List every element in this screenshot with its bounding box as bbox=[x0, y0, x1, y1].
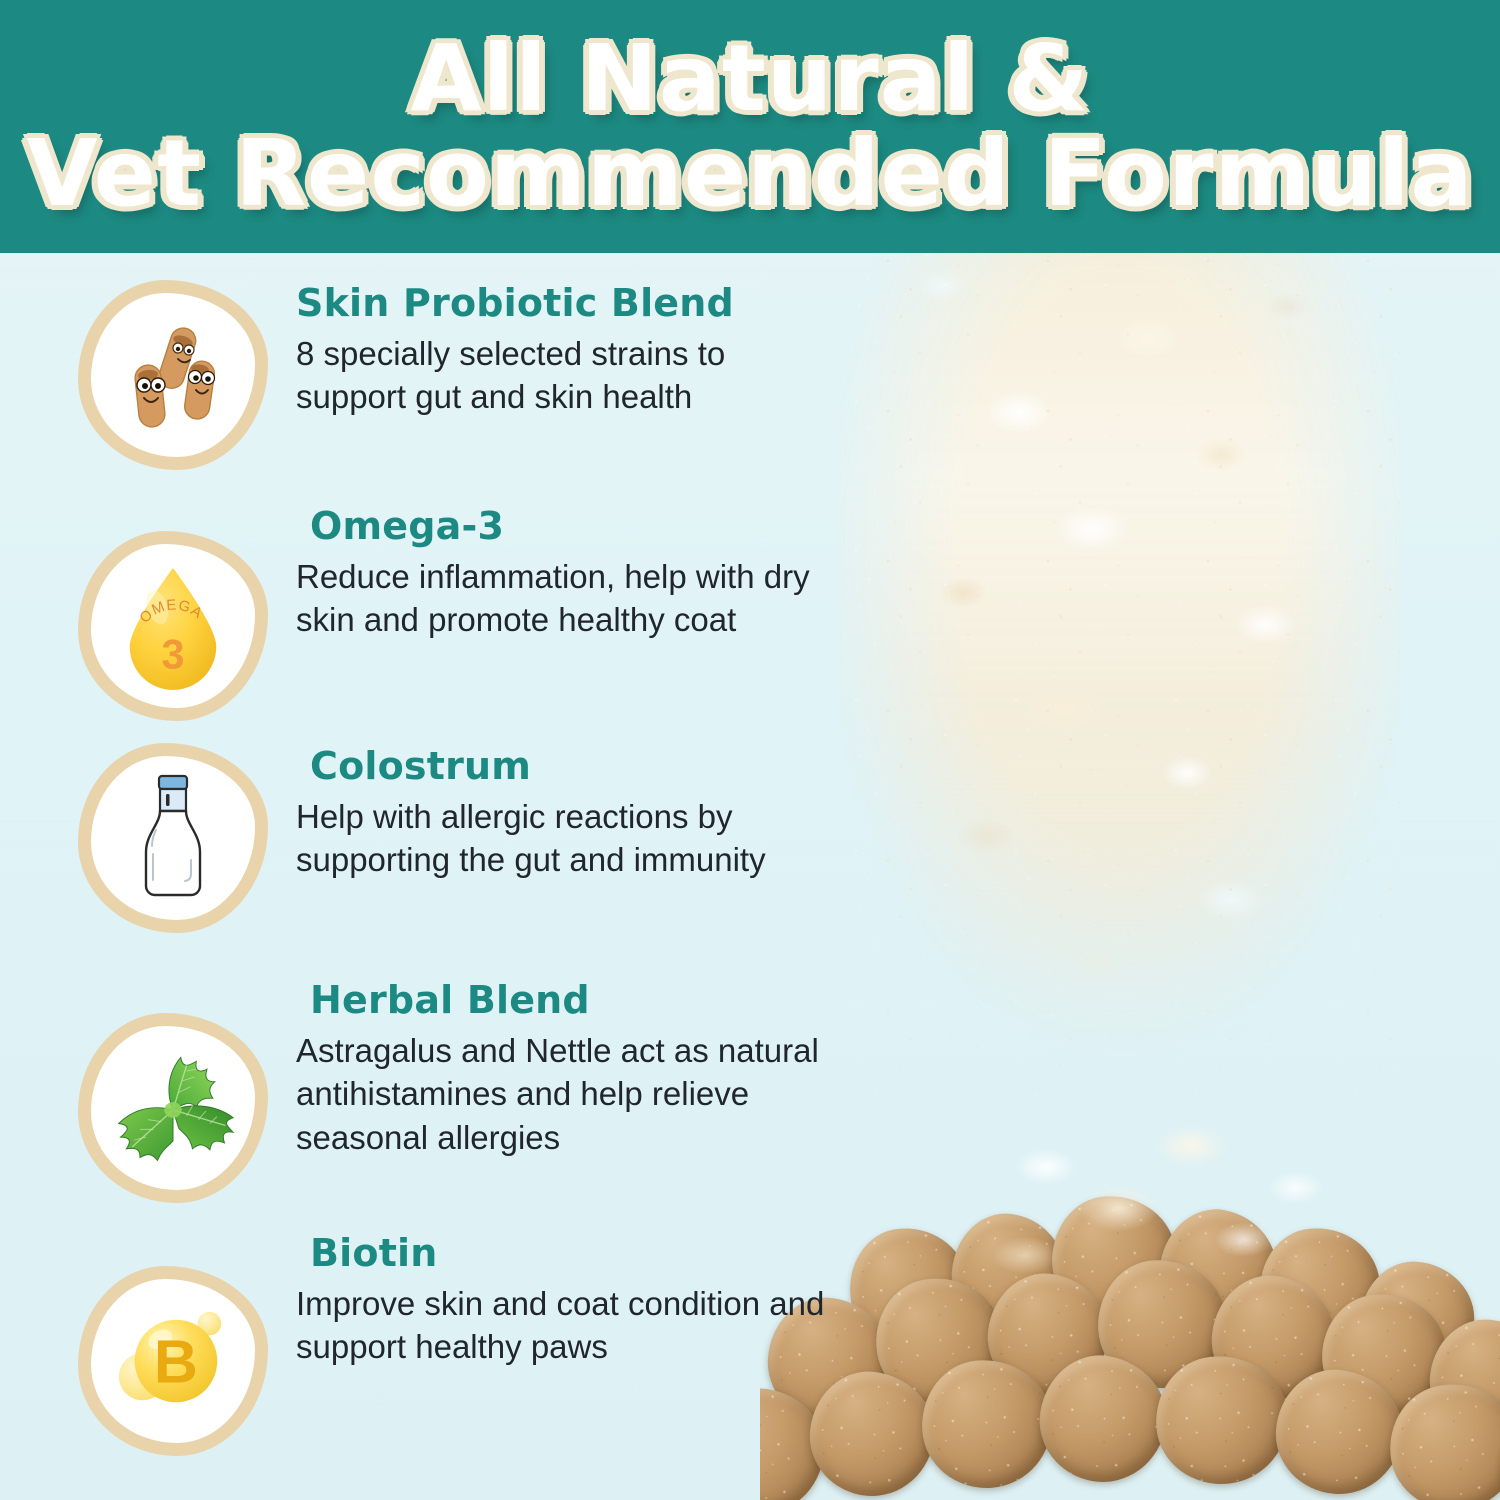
feature-description: Help with allergic reactions by supporti… bbox=[296, 795, 836, 882]
feature-title: Colostrum bbox=[310, 745, 836, 788]
banner-headline-line-1: All Natural & bbox=[410, 34, 1089, 124]
nettle-leaves-icon bbox=[100, 1035, 246, 1181]
feature-text-block: Skin Probiotic Blend 8 specially selecte… bbox=[296, 278, 836, 419]
feature-item: Skin Probiotic Blend 8 specially selecte… bbox=[78, 278, 836, 470]
svg-text:B: B bbox=[154, 1328, 198, 1396]
biotin-capsule-icon: B bbox=[100, 1288, 246, 1434]
product-infographic: All Natural & Vet Recommended Formula bbox=[0, 0, 1500, 1500]
feature-description: Astragalus and Nettle act as natural ant… bbox=[296, 1029, 836, 1160]
feature-title: Skin Probiotic Blend bbox=[296, 282, 836, 325]
feature-item: OMEGA 3 Omega-3 Reduce inflammation, hel… bbox=[78, 501, 836, 721]
probiotic-bacteria-icon bbox=[100, 302, 246, 448]
feature-title: Omega-3 bbox=[310, 505, 836, 548]
header-banner: All Natural & Vet Recommended Formula bbox=[0, 0, 1500, 253]
feature-text-block: Herbal Blend Astragalus and Nettle act a… bbox=[296, 975, 836, 1159]
feature-text-block: Biotin Improve skin and coat condition a… bbox=[296, 1228, 836, 1369]
feature-icon-badge bbox=[78, 743, 268, 933]
feature-icon-badge: OMEGA 3 bbox=[78, 531, 268, 721]
milk-bottle-icon bbox=[100, 765, 246, 911]
feature-text-block: Colostrum Help with allergic reactions b… bbox=[296, 741, 836, 882]
feature-description: Reduce inflammation, help with dry skin … bbox=[296, 555, 836, 642]
feature-list: Skin Probiotic Blend 8 specially selecte… bbox=[0, 253, 860, 1500]
feature-title: Biotin bbox=[310, 1232, 836, 1275]
feature-title: Herbal Blend bbox=[310, 979, 836, 1022]
feature-item: Colostrum Help with allergic reactions b… bbox=[78, 741, 836, 933]
banner-headline-line-2: Vet Recommended Formula bbox=[27, 129, 1474, 219]
feature-icon-badge bbox=[78, 1013, 268, 1203]
feature-description: 8 specially selected strains to support … bbox=[296, 332, 836, 419]
feature-item: B Biotin Improve skin and coat condition… bbox=[78, 1228, 836, 1456]
feature-icon-badge bbox=[78, 280, 268, 470]
feature-icon-badge: B bbox=[78, 1266, 268, 1456]
omega-3-droplet-icon: OMEGA 3 bbox=[100, 553, 246, 699]
feature-description: Improve skin and coat condition and supp… bbox=[296, 1282, 836, 1369]
powder-grain-overlay bbox=[840, 253, 1400, 1263]
feature-text-block: Omega-3 Reduce inflammation, help with d… bbox=[296, 501, 836, 642]
product-photo bbox=[760, 253, 1500, 1500]
feature-item: Herbal Blend Astragalus and Nettle act a… bbox=[78, 975, 836, 1203]
svg-text:3: 3 bbox=[162, 631, 185, 677]
kibble-pile bbox=[760, 1170, 1500, 1500]
